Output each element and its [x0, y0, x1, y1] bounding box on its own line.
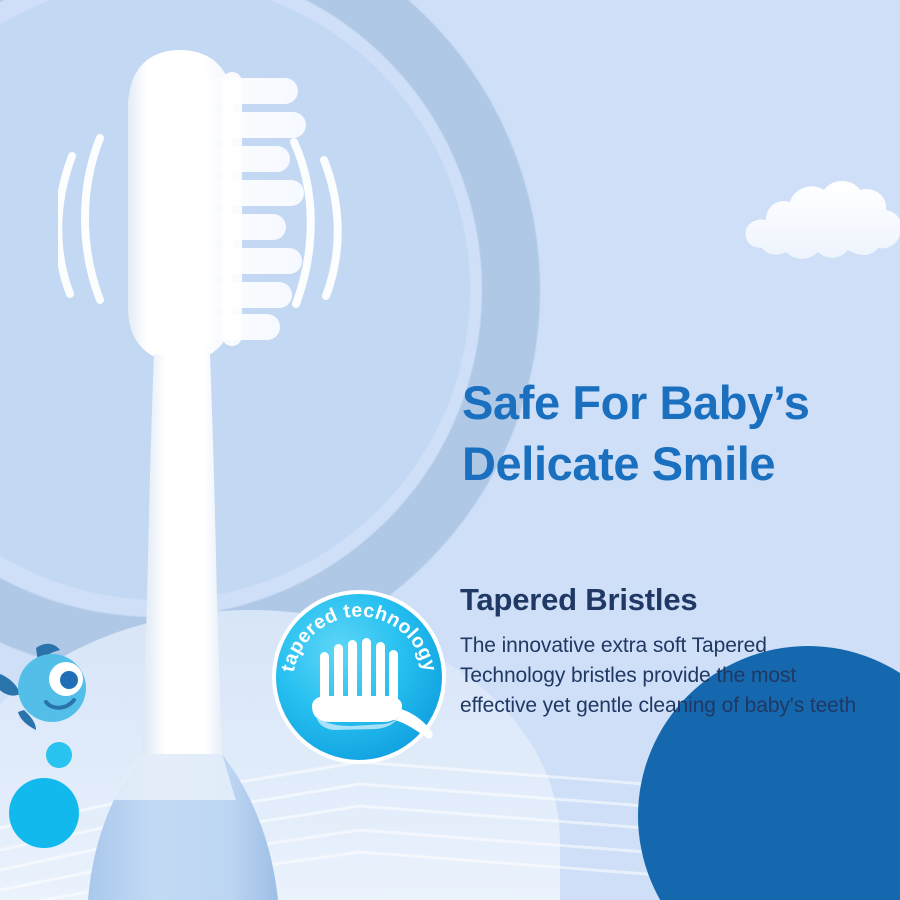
fish-icon	[0, 636, 104, 736]
feature-description: The innovative extra soft Tapered Techno…	[460, 631, 860, 720]
feature-title: Tapered Bristles	[460, 583, 860, 617]
headline-line-2: Delicate Smile	[462, 433, 882, 494]
toothbrush-illustration	[58, 38, 388, 900]
badge-brush-illustration	[272, 590, 446, 764]
bubble-large-icon	[9, 778, 79, 848]
promo-banner: Safe For Baby’s Delicate Smile Tapered B…	[0, 0, 900, 900]
cloud-icon	[744, 168, 900, 286]
tapered-technology-badge: tapered technology	[272, 590, 446, 764]
page-headline: Safe For Baby’s Delicate Smile	[462, 372, 882, 494]
bubble-small-icon	[46, 742, 72, 768]
headline-line-1: Safe For Baby’s	[462, 372, 882, 433]
feature-block: Tapered Bristles The innovative extra so…	[460, 583, 860, 721]
